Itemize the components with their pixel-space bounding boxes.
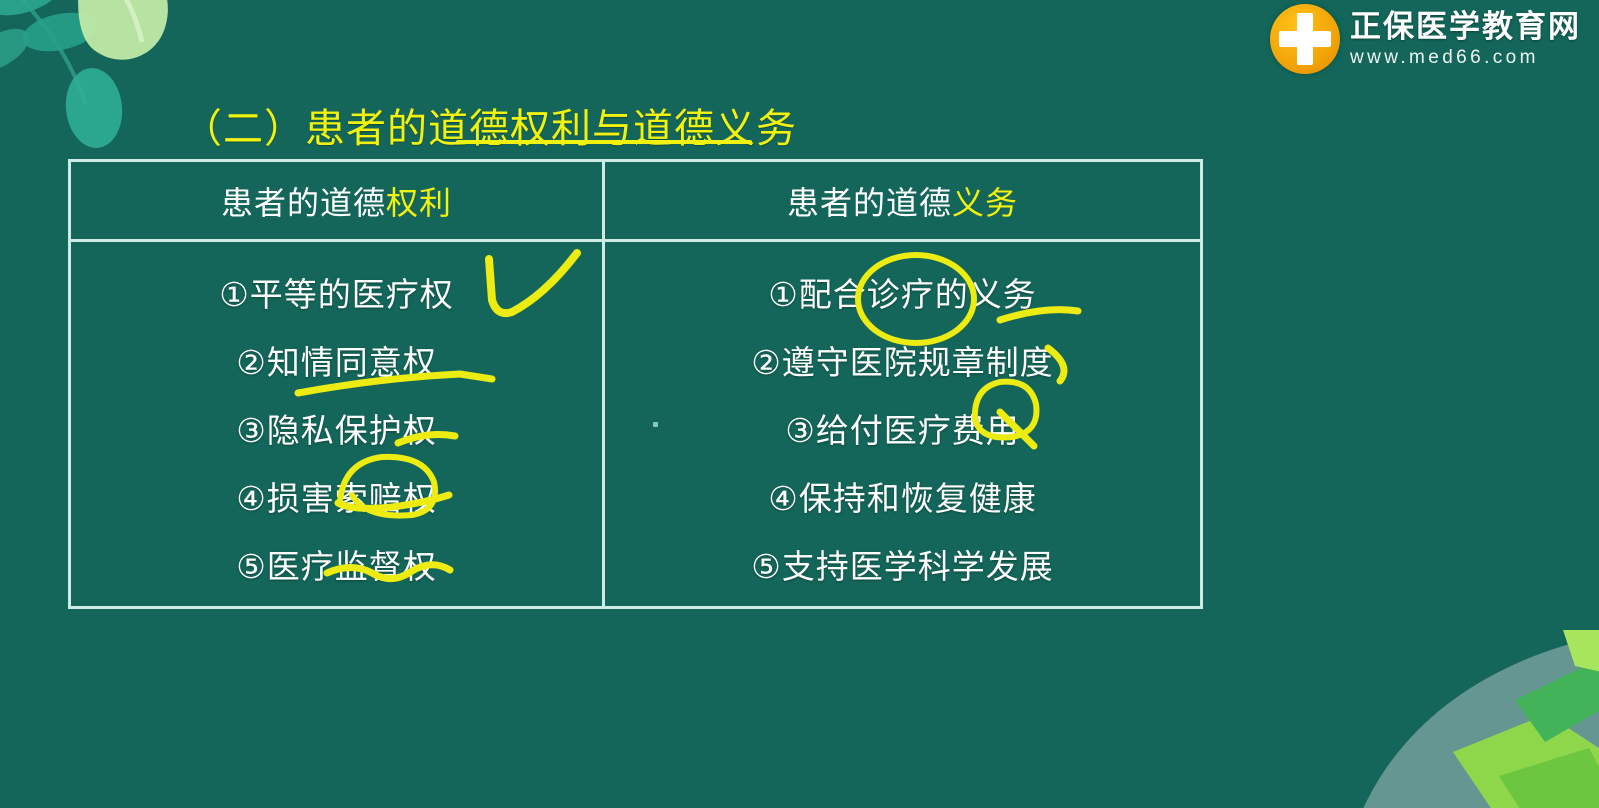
brand-url: www.med66.com	[1350, 48, 1581, 67]
table-body-cell-duties: ①配合诊疗的义务 ②遵守医院规章制度 ③给付医疗费用 ④保持和恢复健康 ⑤支持医…	[605, 242, 1200, 609]
column-header-rights-highlight: 权利	[386, 185, 452, 221]
list-item: ④保持和恢复健康	[751, 472, 1054, 520]
column-header-duties: 患者的道德义务	[787, 178, 1018, 224]
comparison-table: 患者的道德权利 患者的道德义务 ①平等的医疗权 ②知情同意权 ③隐私保护权 ④损…	[68, 159, 1203, 609]
brand-logo-text: 正保医学教育网 www.med66.com	[1350, 11, 1581, 67]
rights-list: ①平等的医疗权 ②知情同意权 ③隐私保护权 ④损害索赔权 ⑤医疗监督权	[219, 264, 454, 588]
list-item: ③给付医疗费用	[751, 404, 1054, 452]
list-item: ①平等的医疗权	[219, 268, 454, 316]
list-item: ④损害索赔权	[219, 472, 454, 520]
table-body-row: ①平等的医疗权 ②知情同意权 ③隐私保护权 ④损害索赔权 ⑤医疗监督权 ①配合诊…	[71, 242, 1200, 609]
leaf-decoration-bottom-icon	[1349, 630, 1599, 808]
column-header-duties-highlight: 义务	[952, 185, 1018, 221]
cross-logo-icon	[1270, 4, 1340, 74]
duties-list: ①配合诊疗的义务 ②遵守医院规章制度 ③给付医疗费用 ④保持和恢复健康 ⑤支持医…	[751, 264, 1054, 588]
table-body-cell-rights: ①平等的医疗权 ②知情同意权 ③隐私保护权 ④损害索赔权 ⑤医疗监督权	[71, 242, 605, 609]
list-item: ②知情同意权	[219, 336, 454, 384]
column-header-rights-plain: 患者的道德	[221, 185, 386, 221]
brand-logo: 正保医学教育网 www.med66.com	[1270, 4, 1581, 74]
list-item: ⑤医疗监督权	[219, 540, 454, 588]
table-header-cell-duties: 患者的道德义务	[605, 162, 1200, 239]
list-item: ③隐私保护权	[219, 404, 454, 452]
table-header-row: 患者的道德权利 患者的道德义务	[71, 162, 1200, 242]
cursor-artifact	[653, 422, 658, 427]
brand-name: 正保医学教育网	[1350, 11, 1581, 42]
title-underline-annotation	[456, 140, 752, 144]
slide-canvas: 正保医学教育网 www.med66.com （二）患者的道德权利与道德义务 患者…	[0, 0, 1599, 808]
table-header-cell-rights: 患者的道德权利	[71, 162, 605, 239]
page-title: （二）患者的道德权利与道德义务	[182, 96, 797, 154]
list-item: ①配合诊疗的义务	[751, 268, 1054, 316]
list-item: ⑤支持医学科学发展	[751, 540, 1054, 588]
column-header-duties-plain: 患者的道德	[787, 185, 952, 221]
column-header-rights: 患者的道德权利	[221, 178, 452, 224]
list-item: ②遵守医院规章制度	[751, 336, 1054, 384]
